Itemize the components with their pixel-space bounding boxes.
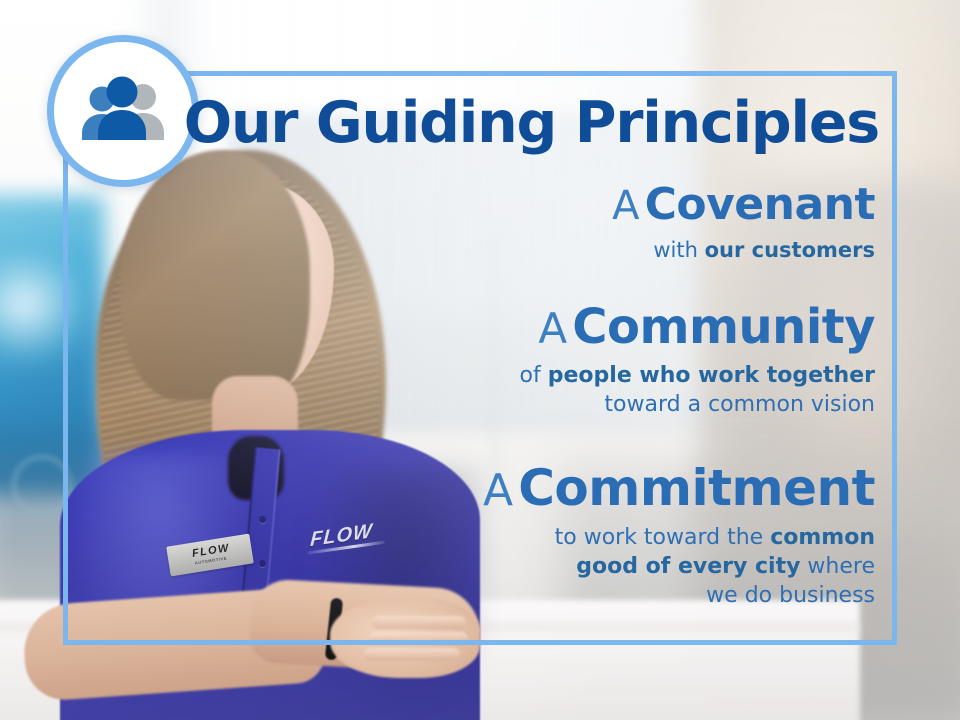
principle-title: A Covenant xyxy=(41,183,875,228)
principle-community: A Community of people who work together … xyxy=(41,303,875,419)
poster-text-content: Our Guiding Principles A Covenant with o… xyxy=(63,71,897,645)
subtitle-line: of people who work together xyxy=(41,361,875,390)
principle-covenant: A Covenant with our customers xyxy=(41,183,875,265)
subtitle-line: good of every city where xyxy=(41,552,875,581)
guiding-principles-poster: FLOW AUTOMOTIVE FLOW O xyxy=(0,0,960,720)
principle-subtitle: with our customers xyxy=(41,237,875,265)
subtitle-line: to work toward the common xyxy=(41,523,875,552)
principle-subtitle: to work toward the common good of every … xyxy=(41,523,875,610)
principle-word: Community xyxy=(572,299,875,355)
principle-article: A xyxy=(538,304,567,353)
principle-title: A Commitment xyxy=(41,463,875,514)
principle-subtitle: of people who work together toward a com… xyxy=(41,361,875,419)
subtitle-line: we do business xyxy=(41,581,875,610)
principle-commitment: A Commitment to work toward the common g… xyxy=(41,463,875,610)
principle-article: A xyxy=(612,183,639,229)
page-title: Our Guiding Principles xyxy=(63,95,879,152)
subtitle-line: with our customers xyxy=(41,237,875,265)
principle-article: A xyxy=(483,465,513,516)
subtitle-line: toward a common vision xyxy=(41,390,875,419)
principle-word: Covenant xyxy=(645,179,875,230)
principle-word: Commitment xyxy=(518,459,875,517)
principle-title: A Community xyxy=(41,303,875,352)
finger xyxy=(364,648,460,661)
